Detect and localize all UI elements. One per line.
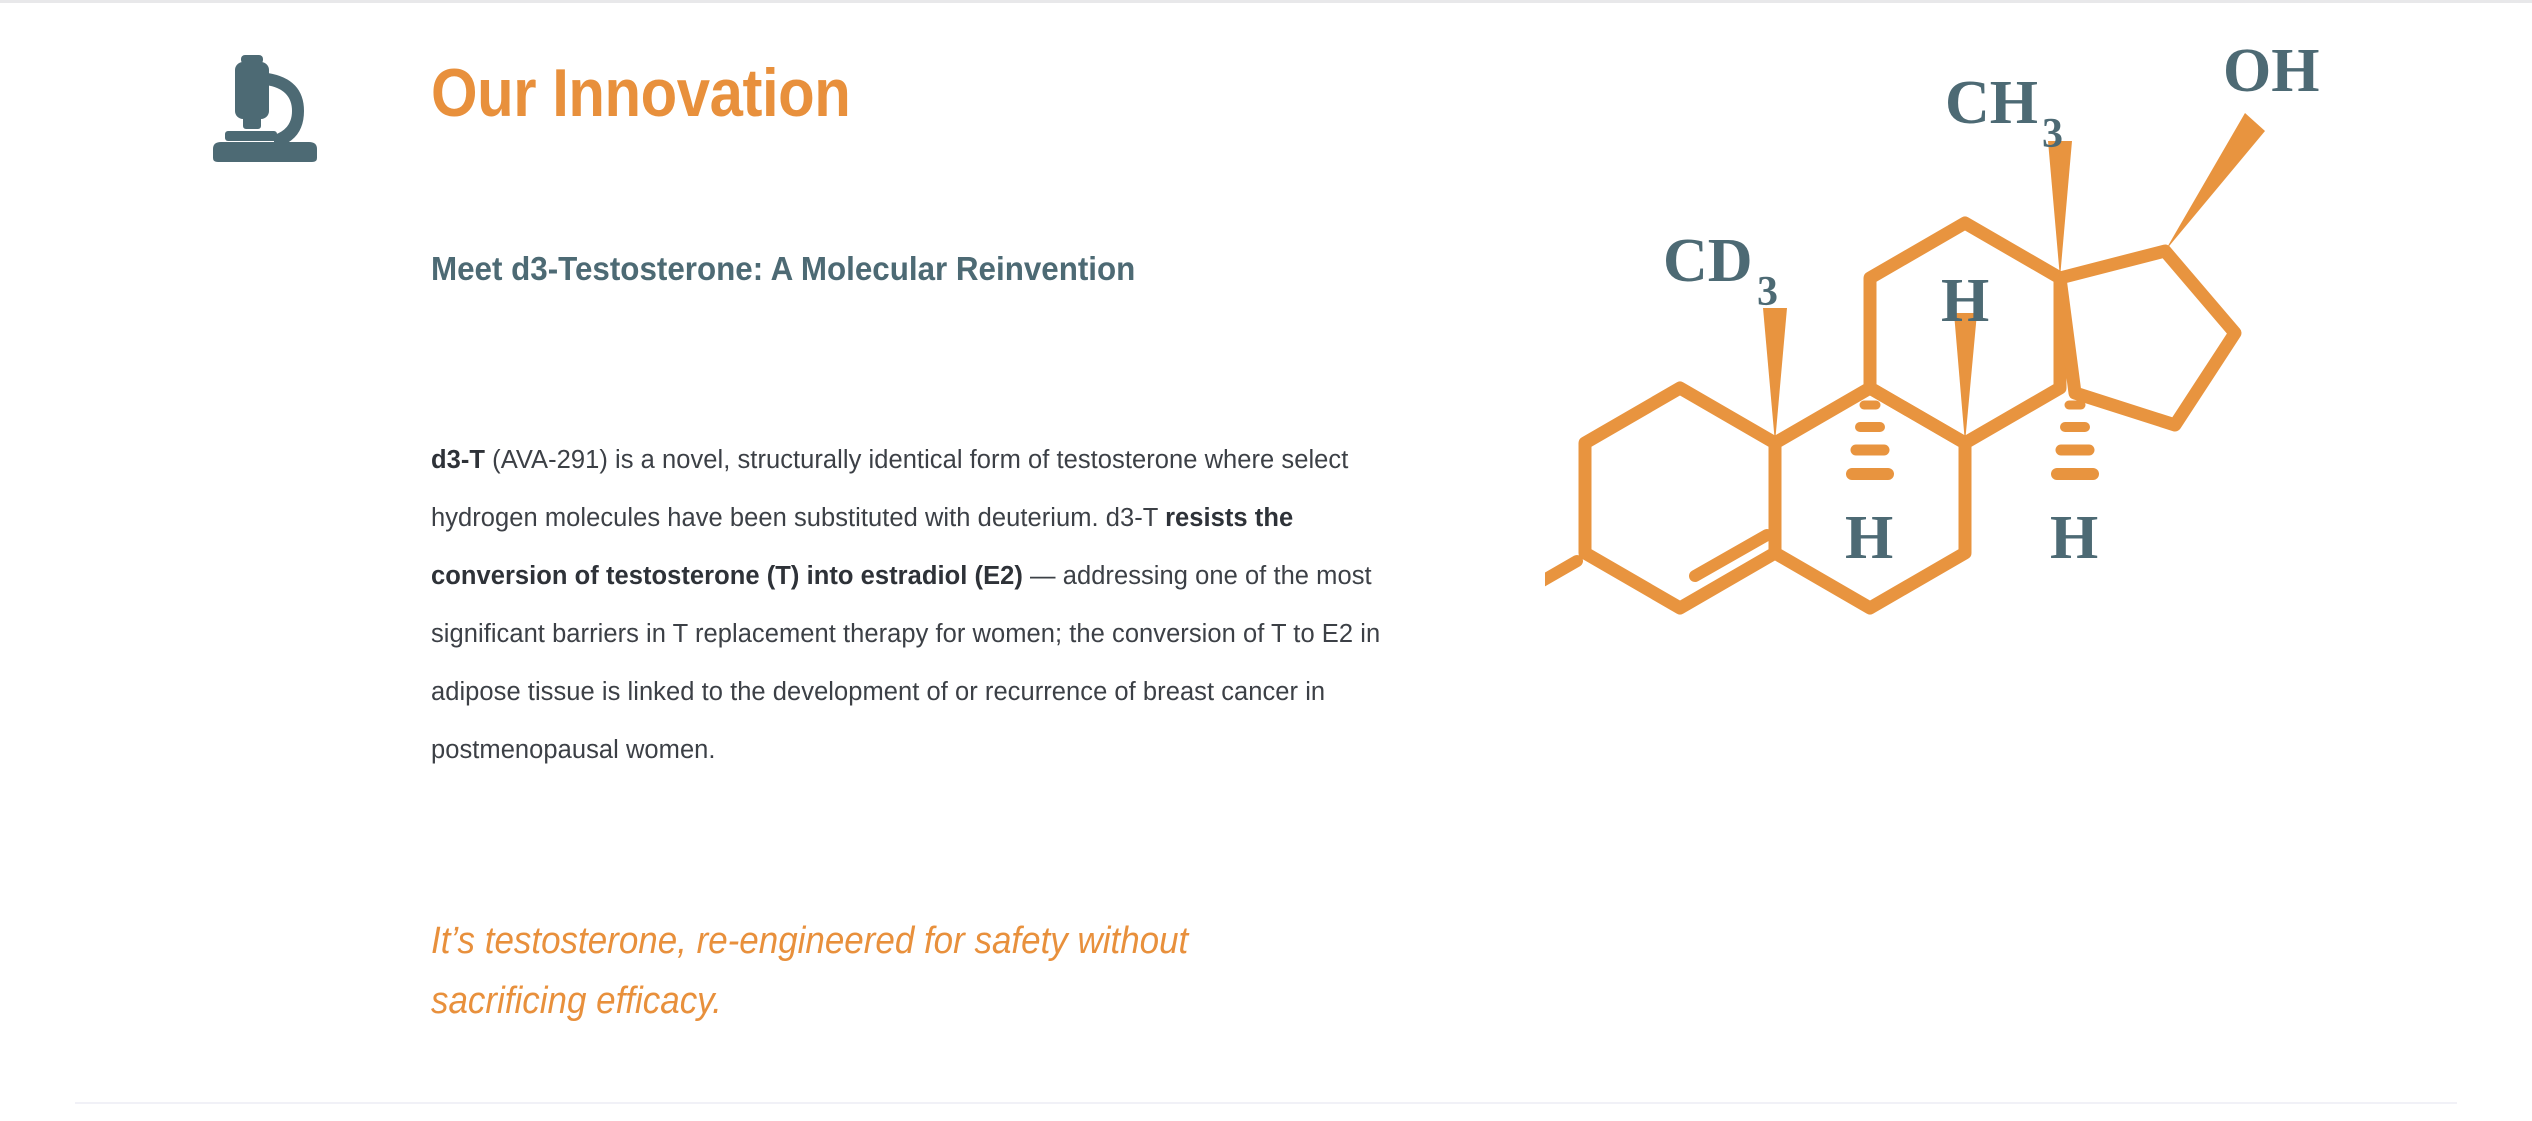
text-column: Our Innovation Meet d3-Testosterone: A M… xyxy=(0,3,1450,1121)
atom-label-ch3-subscript: 3 xyxy=(2042,111,2063,157)
bond-ketone-double-inner xyxy=(1545,561,1577,591)
section-divider xyxy=(75,1102,2457,1104)
section-subheading: Meet d3-Testosterone: A Molecular Reinve… xyxy=(431,229,1153,309)
microscope-icon xyxy=(205,51,325,166)
bond-ring-a xyxy=(1585,388,1775,608)
bond-ring-d xyxy=(2060,251,2235,425)
atom-label-h-axial: H xyxy=(1941,267,1989,335)
molecule-illustration: O CD 3 CH 3 OH H H H xyxy=(1450,3,2532,1121)
body-bold-lead: d3-T xyxy=(431,446,485,474)
bond-wedge-ch3 xyxy=(2048,141,2072,278)
section-tagline: It’s testosterone, re-engineered for saf… xyxy=(431,911,1333,1031)
page-title: Our Innovation xyxy=(431,59,850,127)
bond-wedge-cd3 xyxy=(1763,308,1787,443)
section-body-paragraph: d3-T (AVA-291) is a novel, structurally … xyxy=(431,431,1421,779)
bond-hash-h-left xyxy=(1852,405,1888,474)
atom-label-h-lower-right: H xyxy=(2050,504,2098,572)
atom-label-cd3: CD xyxy=(1663,227,1753,295)
bond-hash-h-right xyxy=(2057,405,2093,474)
our-innovation-section: Our Innovation Meet d3-Testosterone: A M… xyxy=(0,0,2532,1118)
atom-label-ch3: CH xyxy=(1945,69,2038,137)
atom-label-cd3-subscript: 3 xyxy=(1757,269,1778,315)
atom-label-oh: OH xyxy=(2223,37,2319,105)
atom-label-h-lower-left: H xyxy=(1845,504,1893,572)
bond-wedge-oh xyxy=(2165,113,2265,251)
body-run-4: — addressing one of the most significant… xyxy=(431,562,1380,764)
